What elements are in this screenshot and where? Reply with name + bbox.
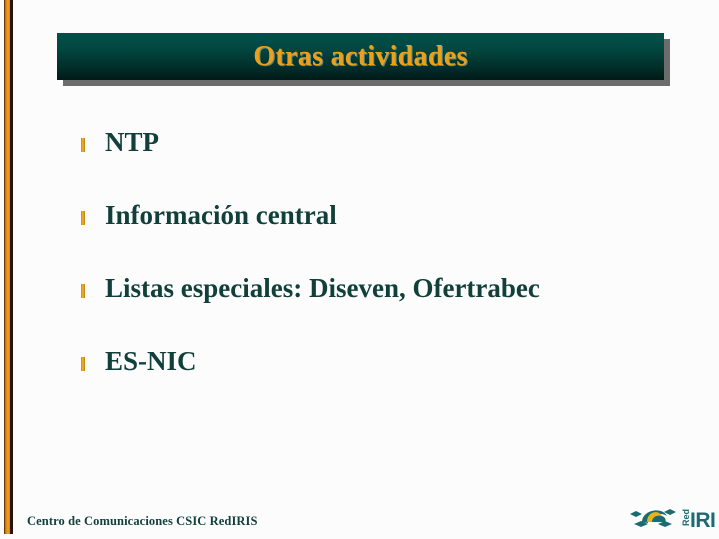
bullet-marker-icon [81,284,85,298]
footer-organization-text: Centro de Comunicaciones CSIC RedIRIS [27,514,258,529]
slide-title: Otras actividades [253,41,467,73]
bullet-item-label: Información central [105,199,337,232]
bullet-marker-icon [81,138,85,152]
bullet-marker-icon [81,357,85,371]
bullet-marker-icon [81,211,85,225]
list-item: ES-NIC [0,345,719,418]
list-item: Listas especiales: Diseven, Ofertrabec [0,272,719,345]
bullet-item-label: NTP [105,126,159,159]
list-item: NTP [0,126,719,199]
bullet-item-label: ES-NIC [105,345,197,378]
presentation-slide: Otras actividades NTP Información centra… [0,0,719,539]
list-item: Información central [0,199,719,272]
rediris-logo-svg: Red IRIS [628,500,716,536]
bullet-item-label: Listas especiales: Diseven, Ofertrabec [105,272,540,305]
logo-word-iris: IRIS [690,509,716,532]
bullet-list: NTP Información central Listas especiale… [0,126,719,418]
title-box: Otras actividades [57,33,664,80]
rediris-logo: Red IRIS [628,500,716,536]
